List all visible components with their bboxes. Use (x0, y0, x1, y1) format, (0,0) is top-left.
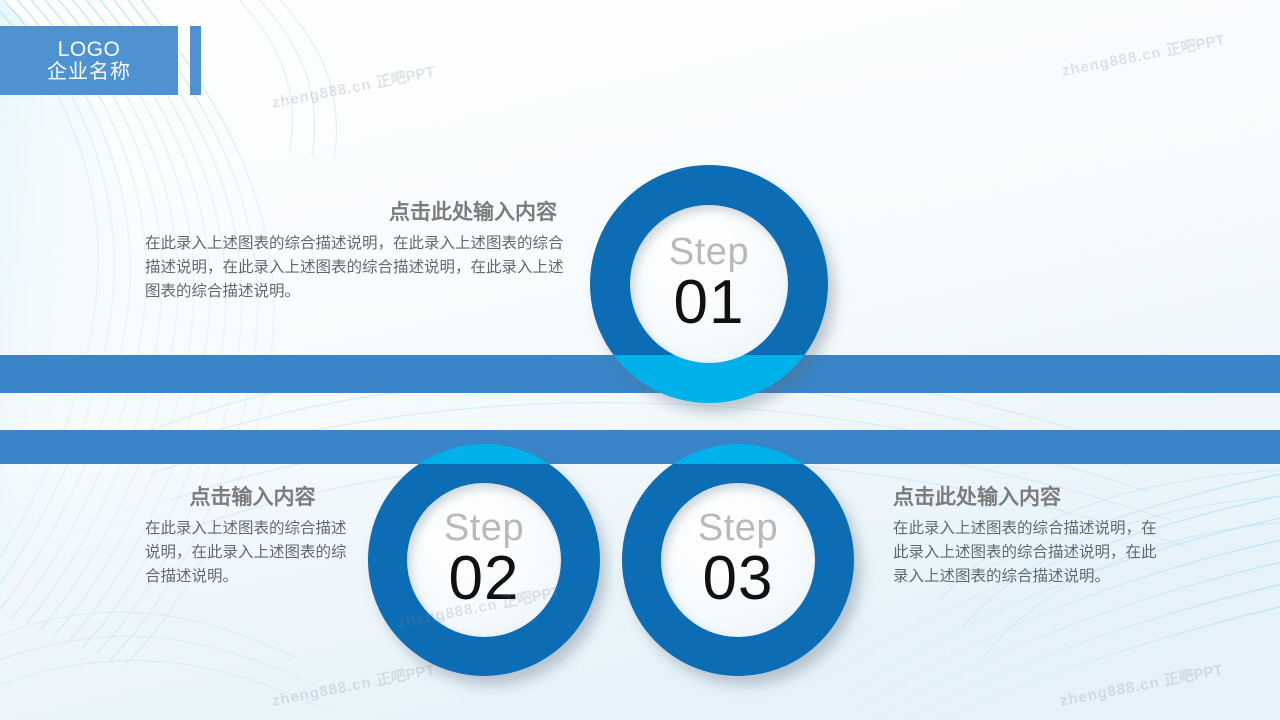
watermark-latin: zheng888.cn (1061, 44, 1163, 80)
logo-box[interactable]: LOGO 企业名称 (0, 26, 178, 95)
logo-title: LOGO (58, 38, 121, 62)
step-circle-01-inner: Step 01 (630, 205, 788, 363)
slide-canvas: LOGO 企业名称 Step 01 Step 02 (0, 0, 1280, 720)
content-block-3-body: 在此录入上述图表的综合描述说明，在此录入上述图表的综合描述说明，在此录入上述图表… (893, 517, 1168, 589)
step-circle-02[interactable]: Step 02 (368, 444, 600, 676)
watermark-latin: zheng888.cn (271, 674, 373, 710)
content-block-1-body: 在此录入上述图表的综合描述说明，在此录入上述图表的综合描述说明，在此录入上述图表… (145, 232, 565, 304)
logo-accent-bar (190, 26, 201, 95)
watermark-cn: 正吧PPT (375, 64, 436, 92)
watermark: zheng888.cn 正吧PPT (270, 61, 436, 113)
watermark-latin: zheng888.cn (1059, 674, 1161, 710)
content-block-1: 点击此处输入内容 在此录入上述图表的综合描述说明，在此录入上述图表的综合描述说明… (145, 200, 565, 304)
step-number-01: 01 (674, 271, 745, 334)
content-block-2: 点击输入内容 在此录入上述图表的综合描述说明，在此录入上述图表的综合描述说明。 (145, 485, 360, 589)
step-label-01: Step (669, 233, 749, 271)
watermark: zheng888.cn 正吧PPT (270, 659, 436, 711)
content-block-3: 点击此处输入内容 在此录入上述图表的综合描述说明，在此录入上述图表的综合描述说明… (893, 485, 1168, 589)
watermark-cn: 正吧PPT (1163, 662, 1224, 690)
watermark: zheng888.cn 正吧PPT (1058, 659, 1224, 711)
logo-subtitle: 企业名称 (47, 61, 131, 83)
watermark-latin: zheng888.cn (271, 76, 373, 112)
content-block-3-title: 点击此处输入内容 (893, 485, 1168, 511)
step-circle-01[interactable]: Step 01 (590, 165, 828, 403)
content-block-2-body: 在此录入上述图表的综合描述说明，在此录入上述图表的综合描述说明。 (145, 517, 360, 589)
step-circle-03[interactable]: Step 03 (622, 444, 854, 676)
watermark-cn: 正吧PPT (1165, 32, 1226, 60)
step-circle-03-inner: Step 03 (661, 483, 815, 637)
watermark: zheng888.cn 正吧PPT (1060, 29, 1226, 81)
step-number-03: 03 (703, 547, 774, 610)
step-label-02: Step (444, 509, 524, 547)
step-label-03: Step (698, 509, 778, 547)
content-block-2-title: 点击输入内容 (145, 485, 360, 511)
content-block-1-title: 点击此处输入内容 (145, 200, 565, 226)
